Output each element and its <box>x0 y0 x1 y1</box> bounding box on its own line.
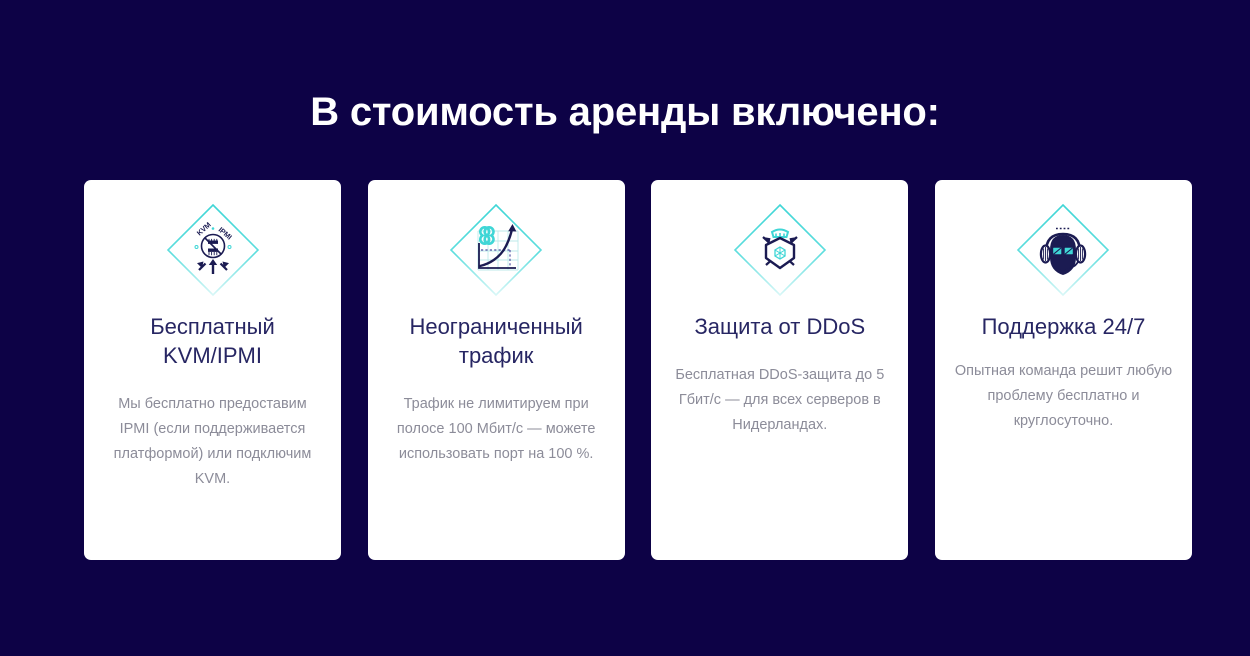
feature-card-support[interactable]: Поддержка 24/7 Опытная команда решит люб… <box>935 180 1192 560</box>
feature-card-title: Бесплатный KVM/IPMI <box>108 312 318 370</box>
feature-cards-row: KVM IPMI Бесплатный KVM/I <box>84 180 1192 560</box>
feature-card-title: Неограниченный трафик <box>391 312 601 370</box>
support-headset-diamond-icon <box>1015 202 1111 298</box>
kvm-ipmi-diamond-icon: KVM IPMI <box>165 202 261 298</box>
svg-text:IPMI: IPMI <box>216 225 233 241</box>
feature-card-ddos-protection[interactable]: Защита от DDoS Бесплатная DDoS-защита до… <box>651 180 908 560</box>
page-title: В стоимость аренды включено: <box>0 88 1250 136</box>
feature-card-unlimited-traffic[interactable]: Неограниченный трафик Трафик не лимитиру… <box>368 180 625 560</box>
feature-card-title: Поддержка 24/7 <box>982 312 1146 341</box>
feature-card-description: Бесплатная DDoS-защита до 5 Гбит/с — для… <box>669 363 890 438</box>
included-in-price-section: В стоимость аренды включено: <box>0 0 1250 656</box>
ddos-shield-diamond-icon <box>732 202 828 298</box>
feature-card-description: Опытная команда решит любую проблему бес… <box>953 359 1174 434</box>
unlimited-traffic-diamond-icon <box>448 202 544 298</box>
feature-card-kvm-ipmi[interactable]: KVM IPMI Бесплатный KVM/I <box>84 180 341 560</box>
feature-card-description: Мы бесплатно предоставим IPMI (если подд… <box>102 392 323 492</box>
feature-card-description: Трафик не лимитируем при полосе 100 Мбит… <box>386 392 607 467</box>
feature-card-title: Защита от DDoS <box>694 312 865 341</box>
